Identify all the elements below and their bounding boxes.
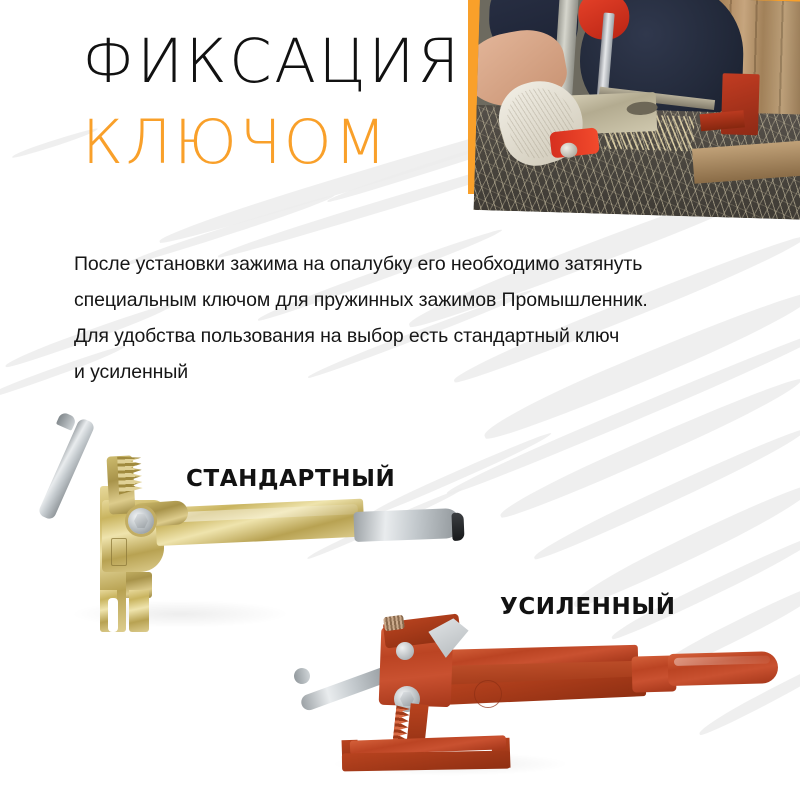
body-line-2: специальным ключом для пружинных зажимов… (74, 282, 734, 318)
reinforced-pivot-pin (396, 642, 414, 660)
poster-canvas: ФИКСАЦИЯ КЛЮЧОМ (0, 0, 800, 800)
standard-grip (353, 508, 460, 542)
body-line-1: После установки зажима на опалубку его н… (74, 246, 734, 282)
title-line-accent: КЛЮЧОМ (82, 109, 462, 177)
standard-side-rod-tip (56, 411, 77, 431)
reinforced-gear-teeth (383, 615, 405, 632)
title-line-primary: ФИКСАЦИЯ (82, 28, 462, 96)
body-line-3: Для удобства пользования на выбор есть с… (74, 318, 734, 354)
standard-toothed-rack (117, 455, 143, 494)
reinforced-side-rod-tip (292, 666, 313, 687)
standard-grip-cap (451, 513, 464, 541)
reinforced-wrench-image (288, 612, 768, 772)
body-line-4: и усиленный (74, 354, 734, 390)
hero-photo-scene (474, 0, 800, 220)
hero-photo-block (468, 0, 800, 220)
body-copy: После установки зажима на опалубку его н… (74, 246, 734, 390)
hero-photo (474, 0, 800, 220)
reinforced-base-bottom-rail (342, 751, 510, 772)
standard-fork-notch (108, 598, 118, 632)
standard-fork-right (129, 590, 149, 632)
standard-side-rod (37, 417, 96, 521)
reinforced-brand-stamp (474, 680, 502, 708)
tool-label-reinforced: УСИЛЕННЫЙ (500, 594, 676, 620)
standard-wrench-image (56, 412, 476, 632)
standard-brand-stamp (111, 538, 127, 566)
tool-label-standard: СТАНДАРТНЫЙ (186, 466, 395, 492)
page-title: ФИКСАЦИЯ КЛЮЧОМ (82, 28, 462, 177)
